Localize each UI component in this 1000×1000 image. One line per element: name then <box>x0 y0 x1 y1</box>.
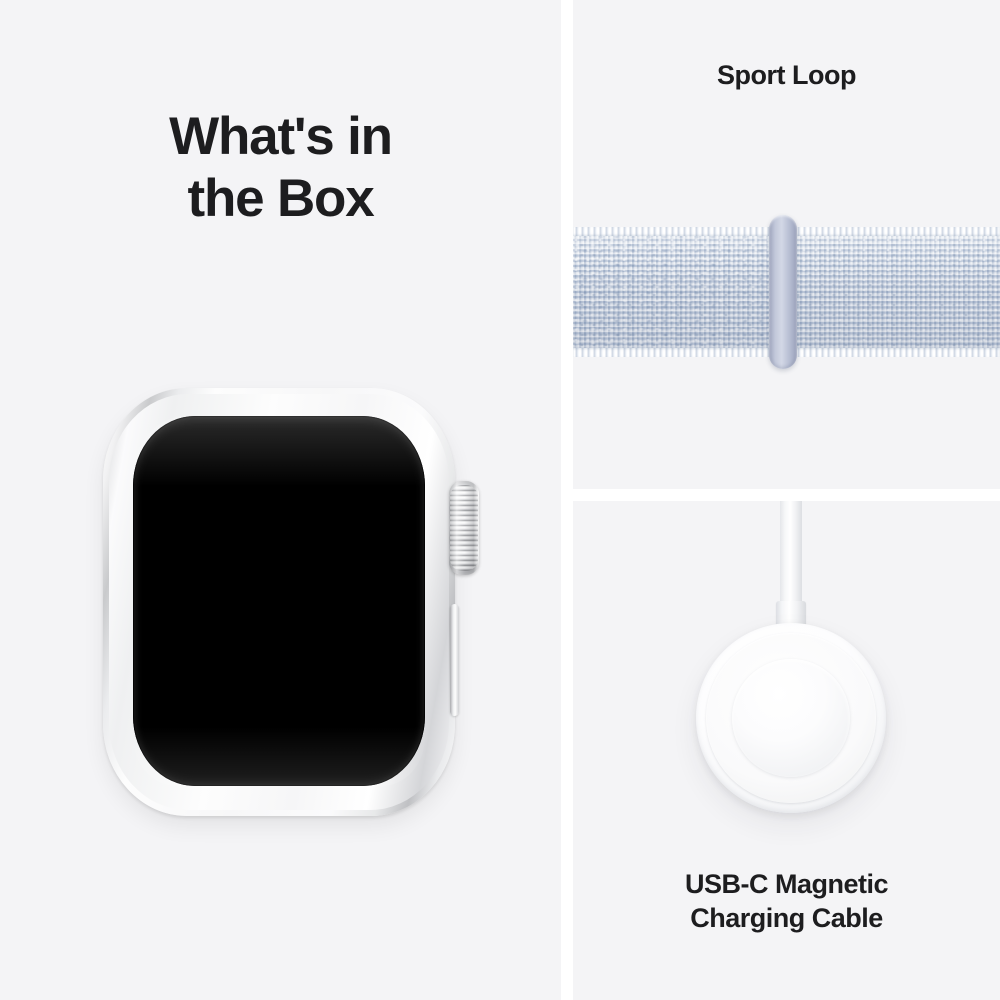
puck-outer-ring <box>706 633 876 803</box>
watch-case <box>103 388 455 816</box>
side-button-icon <box>450 604 459 716</box>
page-title: What's in the Box <box>0 106 561 230</box>
digital-crown-icon <box>449 481 479 575</box>
watch-display <box>133 416 425 786</box>
puck-charging-face <box>732 659 850 777</box>
charging-cable-caption: USB-C Magnetic Charging Cable <box>573 868 1000 936</box>
apple-watch-product-image <box>103 388 455 816</box>
whats-in-the-box-layout: What's in the Box Sport Loop <box>0 0 1000 1000</box>
watch-bezel <box>109 394 449 810</box>
sport-loop-caption: Sport Loop <box>573 59 1000 93</box>
sport-loop-band-image <box>573 227 1000 357</box>
magnetic-charging-puck <box>696 623 886 813</box>
panel-watch: What's in the Box <box>0 0 561 1000</box>
charging-cord <box>780 501 802 604</box>
band-keeper-loop <box>769 215 797 369</box>
